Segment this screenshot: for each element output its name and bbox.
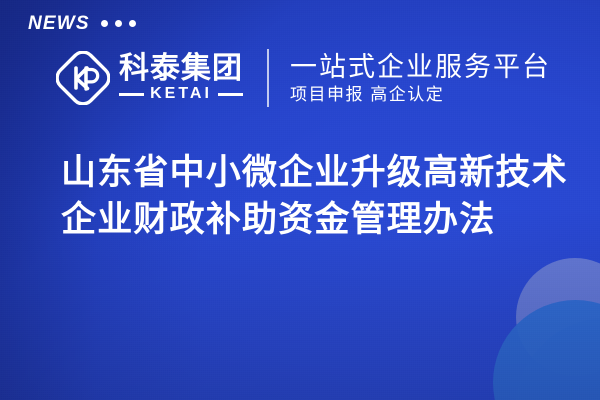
ketai-logo-text: 科泰集团 KETAI [119,54,243,102]
logo-rule-left [119,93,144,96]
slogan-block: 一站式企业服务平台 项目申报 高企认定 [290,54,551,103]
headline-line-2: 企业财政补助资金管理办法 [61,199,568,240]
headline-line-1: 山东省中小微企业升级高新技术 [61,152,568,193]
ketai-diamond-monogram-icon [56,51,110,105]
news-banner: NEWS 科泰集团 KETAI [0,0,600,400]
ketai-logo-english-row: KETAI [119,86,243,102]
logo-rule-right [218,93,243,96]
ketai-logo-chinese: 科泰集团 [119,54,243,84]
header-divider [267,49,269,107]
slogan-main: 一站式企业服务平台 [290,54,551,81]
news-kicker-dots-icon [101,20,136,27]
slogan-sub: 项目申报 高企认定 [290,86,551,103]
brand-header: 科泰集团 KETAI 一站式企业服务平台 项目申报 高企认定 [56,45,551,111]
ketai-logo: 科泰集团 KETAI [56,51,243,105]
headline: 山东省中小微企业升级高新技术 企业财政补助资金管理办法 [61,152,568,241]
news-kicker-label: NEWS [28,14,90,33]
ketai-logo-english: KETAI [150,86,212,102]
news-kicker: NEWS [28,14,136,33]
